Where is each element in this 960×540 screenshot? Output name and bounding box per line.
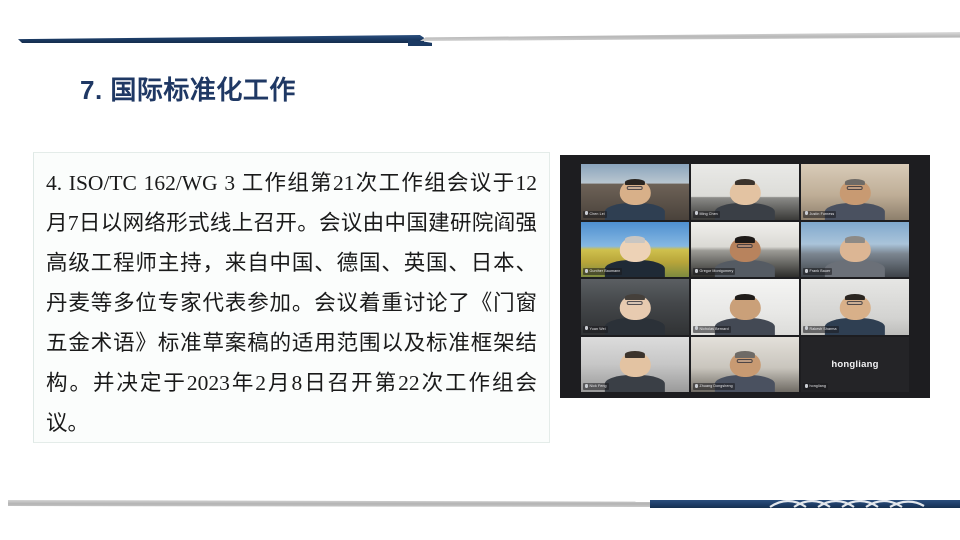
participant-name-label: hongliang <box>803 383 828 390</box>
participant-silhouette <box>720 180 770 220</box>
participant-name-text: Gregor Montgomery <box>700 269 734 273</box>
participant-silhouette <box>830 180 880 220</box>
participant-name-label: Justin Furness <box>803 211 836 218</box>
top-decorative-banner <box>0 30 960 56</box>
microphone-icon <box>695 269 698 273</box>
content-line-1: 4. ISO/TC 162/WG 3 工作组第21次工作组会议 <box>46 171 493 195</box>
bottom-banner-navy-stripe <box>650 500 960 508</box>
banner-navy-tip <box>408 39 432 46</box>
slide-canvas: 7. 国际标准化工作 4. ISO/TC 162/WG 3 工作组第21次工作组… <box>0 0 960 540</box>
participant-tile[interactable]: Gunther Baumann <box>581 222 689 278</box>
participant-silhouette <box>610 180 660 220</box>
participant-name-text: Ming Chen <box>700 212 718 216</box>
participant-head <box>730 352 761 377</box>
glasses-icon <box>627 186 643 190</box>
microphone-icon <box>585 326 588 330</box>
microphone-icon <box>695 384 698 388</box>
participant-head <box>840 295 871 320</box>
glasses-icon <box>737 359 753 363</box>
microphone-icon <box>695 211 698 215</box>
bottom-decorative-banner <box>0 492 960 518</box>
participant-name-label: Chen Lei <box>583 211 607 218</box>
participant-name-text: Gunther Baumann <box>590 269 621 273</box>
participant-silhouette <box>610 352 660 392</box>
microphone-icon <box>805 269 808 273</box>
participant-silhouette <box>830 237 880 277</box>
participant-grid: Chen LeiMing ChenJustin FurnessGunther B… <box>581 164 909 392</box>
participant-silhouette <box>610 295 660 335</box>
content-paragraph: 4. ISO/TC 162/WG 3 工作组第21次工作组会议于12月7日以网络… <box>46 163 537 443</box>
microphone-icon <box>805 384 808 388</box>
participant-name-label: Ming Chen <box>693 211 720 218</box>
microphone-icon <box>585 384 588 388</box>
participant-name-label: Gregor Montgomery <box>693 268 735 275</box>
participant-head <box>620 180 651 205</box>
participant-name-label: Yuan Wei <box>583 326 608 333</box>
participant-torso <box>605 203 666 220</box>
participant-tile[interactable]: Rakesh Sharma <box>801 279 909 335</box>
participant-name-text: Zhuang Dongsheng <box>700 384 733 388</box>
participant-hair <box>625 351 645 358</box>
participant-name-label: Rakesh Sharma <box>803 326 839 333</box>
participant-torso <box>605 375 666 392</box>
participant-name-text: Nicholas Bernard <box>700 327 729 331</box>
banner-navy-stripe <box>18 35 424 43</box>
participant-tile[interactable]: Zhuang Dongsheng <box>691 337 799 393</box>
participant-tile[interactable]: Ming Chen <box>691 164 799 220</box>
participant-tile[interactable]: Gregor Montgomery <box>691 222 799 278</box>
participant-hair <box>625 236 645 243</box>
glasses-icon <box>737 244 753 248</box>
microphone-icon <box>585 269 588 273</box>
participant-head <box>620 237 651 262</box>
participant-tile[interactable]: Yuan Wei <box>581 279 689 335</box>
participant-name-text: Rakesh Sharma <box>810 327 837 331</box>
participant-hair <box>625 179 645 186</box>
participant-name-label: Zhuang Dongsheng <box>693 383 735 390</box>
banner-gray-stripe <box>420 32 960 41</box>
participant-name-text: Nick Feng <box>590 384 607 388</box>
glasses-icon <box>627 301 643 305</box>
participant-hair <box>735 351 755 358</box>
microphone-icon <box>585 211 588 215</box>
participant-name-label: Frank Bauer <box>803 268 832 275</box>
participant-tile[interactable]: Nicholas Bernard <box>691 279 799 335</box>
participant-hair <box>625 294 645 301</box>
participant-tile[interactable]: honglianghongliang <box>801 337 909 393</box>
participant-name-label: Nicholas Bernard <box>693 326 731 333</box>
participant-head <box>730 180 761 205</box>
participant-hair <box>845 294 865 301</box>
participant-head <box>840 237 871 262</box>
participant-hair <box>845 179 865 186</box>
participant-tile[interactable]: Justin Furness <box>801 164 909 220</box>
participant-name-label: Nick Feng <box>583 383 609 390</box>
microphone-icon <box>805 326 808 330</box>
participant-hair <box>735 179 755 186</box>
participant-display-name: hongliang <box>831 359 878 370</box>
participant-hair <box>845 236 865 243</box>
bottom-banner-swash-ornament <box>768 498 928 510</box>
participant-head <box>620 295 651 320</box>
glasses-icon <box>847 186 863 190</box>
participant-head <box>840 180 871 205</box>
participant-head <box>730 237 761 262</box>
participant-head <box>620 352 651 377</box>
participant-head <box>730 295 761 320</box>
participant-name-text: hongliang <box>810 384 827 388</box>
video-conference-panel: Chen LeiMing ChenJustin FurnessGunther B… <box>560 155 930 398</box>
participant-tile[interactable]: Frank Bauer <box>801 222 909 278</box>
participant-torso <box>715 203 776 220</box>
participant-name-text: Yuan Wei <box>590 327 606 331</box>
participant-name-text: Chen Lei <box>590 212 605 216</box>
microphone-icon <box>805 211 808 215</box>
page-title: 7. 国际标准化工作 <box>80 73 296 107</box>
participant-torso <box>605 318 666 335</box>
content-text-box: 4. ISO/TC 162/WG 3 工作组第21次工作组会议于12月7日以网络… <box>33 152 550 443</box>
bottom-banner-gray-stripe <box>8 500 656 507</box>
glasses-icon <box>847 301 863 305</box>
participant-name-text: Frank Bauer <box>810 269 831 273</box>
participant-tile[interactable]: Chen Lei <box>581 164 689 220</box>
participant-name-text: Justin Furness <box>810 212 835 216</box>
participant-tile[interactable]: Nick Feng <box>581 337 689 393</box>
participant-hair <box>735 236 755 243</box>
participant-name-label: Gunther Baumann <box>583 268 622 275</box>
microphone-icon <box>695 326 698 330</box>
participant-hair <box>735 294 755 301</box>
participant-torso <box>825 260 886 277</box>
